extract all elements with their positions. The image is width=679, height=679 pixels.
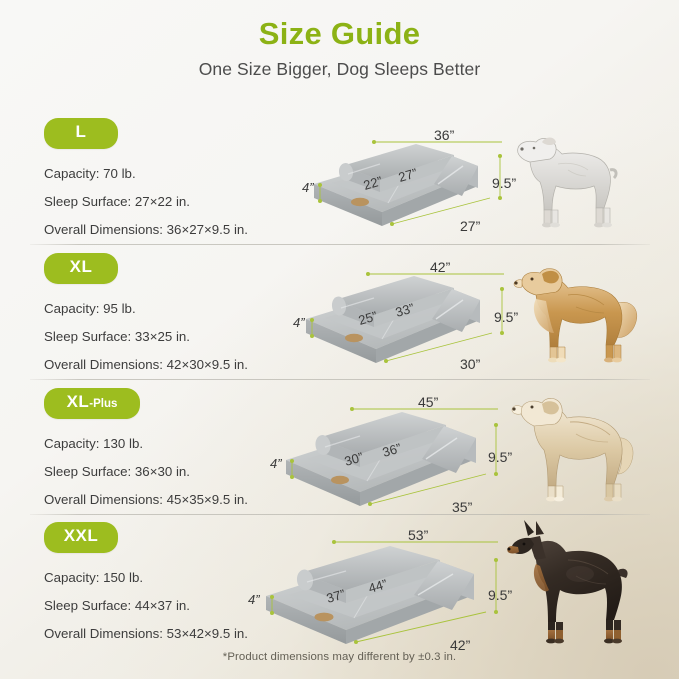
dim-top-label: 45”: [418, 394, 439, 410]
dim-top-label: 42”: [430, 259, 451, 275]
dim-top-label: 36”: [434, 127, 455, 143]
size-badge-xl-plus: XL-Plus: [44, 388, 140, 419]
overall-dimensions-text: Overall Dimensions: 42×30×9.5 in.: [44, 357, 314, 372]
size-badge-label: XL: [67, 392, 90, 411]
dog-illustration-labrador: [504, 388, 652, 512]
dim-left-label: 4”: [248, 592, 260, 607]
bed-illustration-xl: 42” 9.5” 4” 30” 25” 33”: [292, 259, 532, 375]
capacity-text: Capacity: 70 lb.: [44, 166, 314, 181]
header: Size Guide One Size Bigger, Dog Sleeps B…: [0, 14, 679, 82]
size-badge-suffix: -Plus: [89, 398, 117, 410]
dim-top-label: 53”: [408, 527, 429, 543]
overall-dimensions-text: Overall Dimensions: 36×27×9.5 in.: [44, 222, 314, 237]
size-guide-infographic: Size Guide One Size Bigger, Dog Sleeps B…: [0, 0, 679, 679]
footnote-text: *Product dimensions may different by ±0.…: [0, 651, 679, 663]
sleep-surface-text: Sleep Surface: 33×25 in.: [44, 329, 314, 344]
dim-bottom-label: 35”: [452, 499, 473, 515]
size-info-l: L Capacity: 70 lb. Sleep Surface: 27×22 …: [44, 118, 314, 237]
dim-left-label: 4”: [270, 456, 282, 471]
row-divider: [30, 514, 650, 515]
dim-bottom-label: 30”: [460, 356, 481, 372]
row-divider: [30, 244, 650, 245]
size-badge-label: XL: [70, 257, 93, 276]
page-title: Size Guide: [0, 14, 679, 54]
size-row-xl-plus: XL-Plus Capacity: 130 lb. Sleep Surface:…: [0, 388, 679, 518]
capacity-text: Capacity: 95 lb.: [44, 301, 314, 316]
dim-left-label: 4”: [293, 315, 305, 330]
row-divider: [30, 379, 650, 380]
size-row-xxl: XXL Capacity: 150 lb. Sleep Surface: 44×…: [0, 522, 679, 652]
bed-illustration-xxl: 53” 9.5” 4” 42” 37” 44”: [234, 526, 530, 654]
dog-illustration-bulldog: [496, 124, 636, 236]
size-badge-xl: XL: [44, 253, 118, 284]
bed-illustration-xl-plus: 45” 9.5” 4” 35” 30” 36”: [264, 392, 530, 516]
dog-illustration-golden-retriever: [506, 255, 650, 373]
size-badge-label: XXL: [64, 526, 99, 545]
size-badge-l: L: [44, 118, 118, 149]
size-info-xl: XL Capacity: 95 lb. Sleep Surface: 33×25…: [44, 253, 314, 372]
dim-bottom-label: 27”: [460, 218, 481, 234]
dim-left-label: 4”: [302, 180, 314, 195]
dog-illustration-doberman: [502, 518, 654, 650]
size-badge-xxl: XXL: [44, 522, 118, 553]
size-row-l: L Capacity: 70 lb. Sleep Surface: 27×22 …: [0, 118, 679, 248]
sleep-surface-text: Sleep Surface: 27×22 in.: [44, 194, 314, 209]
size-badge-label: L: [76, 122, 87, 141]
size-row-xl: XL Capacity: 95 lb. Sleep Surface: 33×25…: [0, 253, 679, 383]
page-subtitle: One Size Bigger, Dog Sleeps Better: [0, 56, 679, 82]
